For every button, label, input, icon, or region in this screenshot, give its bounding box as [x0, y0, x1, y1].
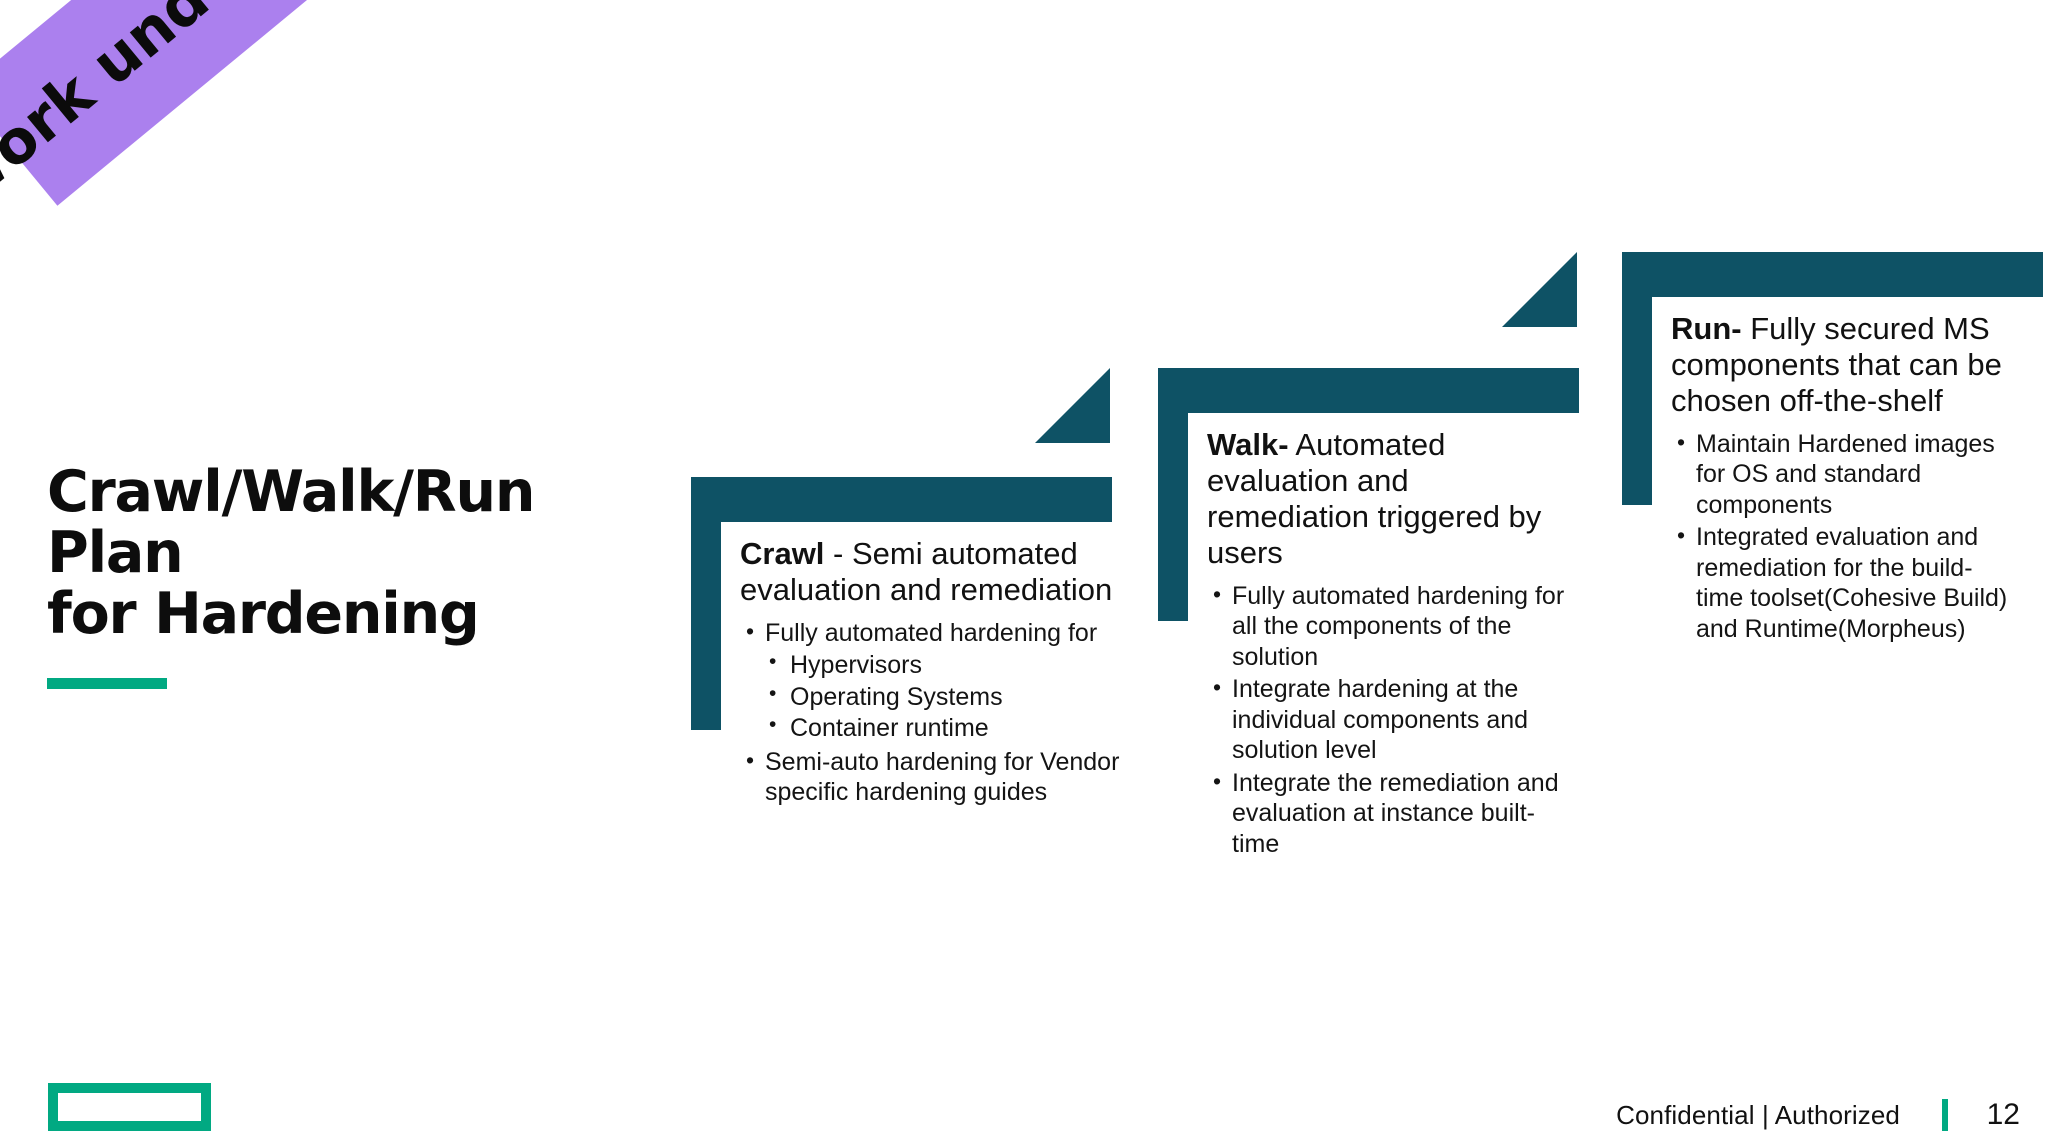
- list-item: Maintain Hardened images for OS and stan…: [1671, 429, 2011, 521]
- card-run-bullets: Maintain Hardened images for OS and stan…: [1671, 429, 2011, 645]
- card-crawl-topbar: [691, 477, 1112, 522]
- work-under-progress-label: Work under Progress: [0, 0, 524, 224]
- list-item: Fully automated hardening for all the co…: [1207, 581, 1577, 673]
- arrow-triangle-crawl: [1035, 368, 1110, 443]
- list-item: Container runtime: [765, 713, 1120, 745]
- list-item: Integrated evaluation and remediation fo…: [1671, 522, 2011, 644]
- footer-separator: [1942, 1099, 1948, 1131]
- card-crawl-heading: Crawl - Semi automated evaluation and re…: [740, 536, 1120, 608]
- list-item: Integrate hardening at the individual co…: [1207, 674, 1577, 766]
- card-crawl-body: Crawl - Semi automated evaluation and re…: [740, 536, 1120, 810]
- card-crawl-bullets: Fully automated hardening for Hypervisor…: [740, 618, 1120, 808]
- card-crawl-leftbar: [691, 477, 721, 730]
- page-number: 12: [1980, 1098, 2020, 1132]
- page-title: Crawl/Walk/Run Planfor Hardening: [47, 462, 647, 645]
- card-run-heading-bold: Run-: [1671, 311, 1742, 346]
- card-crawl-subbullets: Hypervisors Operating Systems Container …: [765, 650, 1120, 745]
- card-crawl-bullet-0: Fully automated hardening for: [765, 619, 1097, 647]
- arrow-triangle-walk: [1502, 252, 1577, 327]
- slide-canvas: Work under Progress Crawl/Walk/Run Planf…: [0, 0, 2050, 1141]
- card-run-topbar: [1622, 252, 2043, 297]
- card-run-leftbar: [1622, 252, 1652, 505]
- card-run: Run- Fully secured MS components that ca…: [1622, 252, 2043, 505]
- title-block: Crawl/Walk/Run Planfor Hardening: [47, 462, 647, 689]
- card-run-body: Run- Fully secured MS components that ca…: [1671, 311, 2011, 646]
- card-walk: Walk- Automated evaluation and remediati…: [1158, 368, 1579, 621]
- card-walk-leftbar: [1158, 368, 1188, 621]
- card-walk-heading-bold: Walk-: [1207, 427, 1289, 462]
- card-walk-body: Walk- Automated evaluation and remediati…: [1207, 427, 1577, 861]
- list-item: Semi-auto hardening for Vendor specific …: [740, 747, 1120, 808]
- footer-confidentiality-label: Confidential | Authorized: [1616, 1100, 1900, 1131]
- work-under-progress-banner: Work under Progress: [0, 0, 490, 206]
- card-run-heading: Run- Fully secured MS components that ca…: [1671, 311, 2011, 419]
- card-walk-bullets: Fully automated hardening for all the co…: [1207, 581, 1577, 860]
- list-item: Operating Systems: [765, 682, 1120, 714]
- footer: Confidential | Authorized 12: [1616, 1098, 2020, 1132]
- page-title-line1: Crawl/Walk/Run Plan: [47, 459, 534, 586]
- list-item: Fully automated hardening for Hypervisor…: [740, 618, 1120, 745]
- list-item: Hypervisors: [765, 650, 1120, 682]
- list-item: Integrate the remediation and evaluation…: [1207, 768, 1577, 860]
- title-accent-rule: [47, 678, 167, 689]
- page-title-line2: for Hardening: [47, 581, 479, 647]
- card-walk-heading: Walk- Automated evaluation and remediati…: [1207, 427, 1577, 571]
- card-crawl-heading-bold: Crawl: [740, 536, 824, 571]
- card-walk-topbar: [1158, 368, 1579, 413]
- card-crawl: Crawl - Semi automated evaluation and re…: [691, 477, 1112, 730]
- hpe-logo: [48, 1083, 211, 1131]
